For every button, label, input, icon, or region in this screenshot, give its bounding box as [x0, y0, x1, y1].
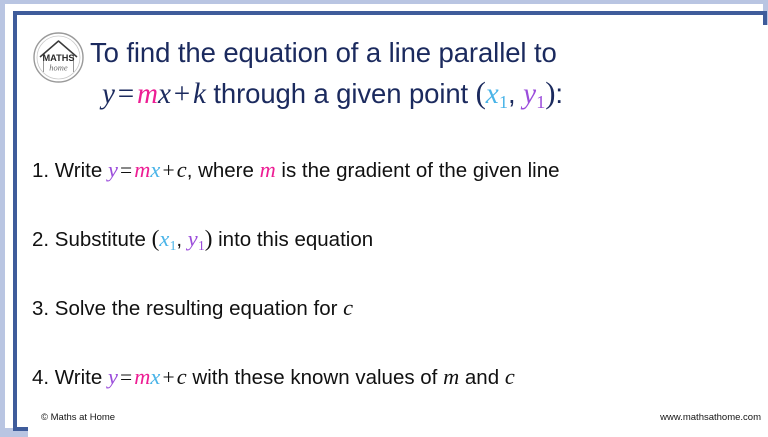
math-token: =	[118, 158, 134, 182]
math-token: 3. Solve the resulting equation for	[32, 297, 343, 320]
math-token: into this equation	[212, 228, 373, 251]
math-token: through a given point	[206, 78, 476, 109]
math-token: is the gradient of the given line	[276, 159, 560, 182]
logo-home-text: home	[49, 63, 68, 73]
math-token: x	[150, 364, 160, 389]
math-token: with these known values of	[187, 366, 443, 389]
maths-at-home-logo-icon: MATHS home	[32, 31, 85, 84]
math-token: 1	[499, 92, 508, 112]
title-line-1: To find the equation of a line parallel …	[90, 33, 766, 72]
math-token: m	[137, 78, 158, 110]
math-token: c	[177, 364, 187, 389]
math-token: m	[134, 157, 150, 182]
math-token: m	[134, 364, 150, 389]
footer-website[interactable]: www.mathsathome.com	[660, 412, 761, 423]
slide-white-gap: MATHS home To find the equation of a lin…	[5, 4, 763, 428]
math-token: c	[343, 295, 353, 320]
math-token: 2. Substitute	[32, 228, 152, 251]
math-token: )	[545, 76, 555, 110]
math-token: y	[108, 157, 118, 182]
math-token: m	[260, 157, 276, 182]
math-token: 4. Write	[32, 366, 108, 389]
math-token: y	[108, 364, 118, 389]
step-item-2: 2. Substitute (x1, y1) into this equatio…	[32, 226, 768, 295]
math-token: ,	[176, 228, 187, 251]
math-token: +	[160, 365, 176, 389]
math-token: ,	[508, 78, 523, 109]
slide-content-canvas: MATHS home To find the equation of a lin…	[28, 25, 768, 437]
slide-outer-margin: MATHS home To find the equation of a lin…	[0, 0, 768, 433]
math-token: 1	[198, 238, 205, 253]
math-token: m	[443, 364, 459, 389]
math-token: x	[159, 226, 169, 251]
math-token: x	[486, 78, 499, 110]
step-item-1: 1. Write y=mx+c, where m is the gradient…	[32, 157, 768, 226]
math-token: +	[160, 158, 176, 182]
math-token: k	[193, 78, 206, 110]
title-line-2-equation: y=mx+k through a given point (x1, y1):	[90, 74, 766, 122]
math-token: x	[150, 157, 160, 182]
math-token: c	[505, 364, 515, 389]
math-token: 1	[536, 92, 545, 112]
math-token: 1. Write	[32, 159, 108, 182]
math-token: and	[459, 366, 505, 389]
math-token: (	[476, 76, 486, 110]
slide-blue-border: MATHS home To find the equation of a lin…	[13, 11, 767, 431]
slide-footer: © Maths at Home www.mathsathome.com	[39, 412, 763, 428]
math-token: +	[171, 78, 193, 110]
math-token: x	[158, 78, 171, 110]
math-token: y	[188, 226, 198, 251]
footer-copyright: © Maths at Home	[41, 412, 115, 423]
math-token: y	[523, 78, 536, 110]
step-item-3: 3. Solve the resulting equation for c	[32, 295, 768, 364]
slide-title: To find the equation of a line parallel …	[90, 33, 766, 122]
math-token: =	[118, 365, 134, 389]
math-token: c	[177, 157, 187, 182]
math-token: , where	[187, 159, 260, 182]
steps-list: 1. Write y=mx+c, where m is the gradient…	[32, 157, 768, 433]
math-token: :	[555, 78, 563, 109]
math-token: y	[102, 78, 115, 110]
math-token: =	[115, 78, 137, 110]
